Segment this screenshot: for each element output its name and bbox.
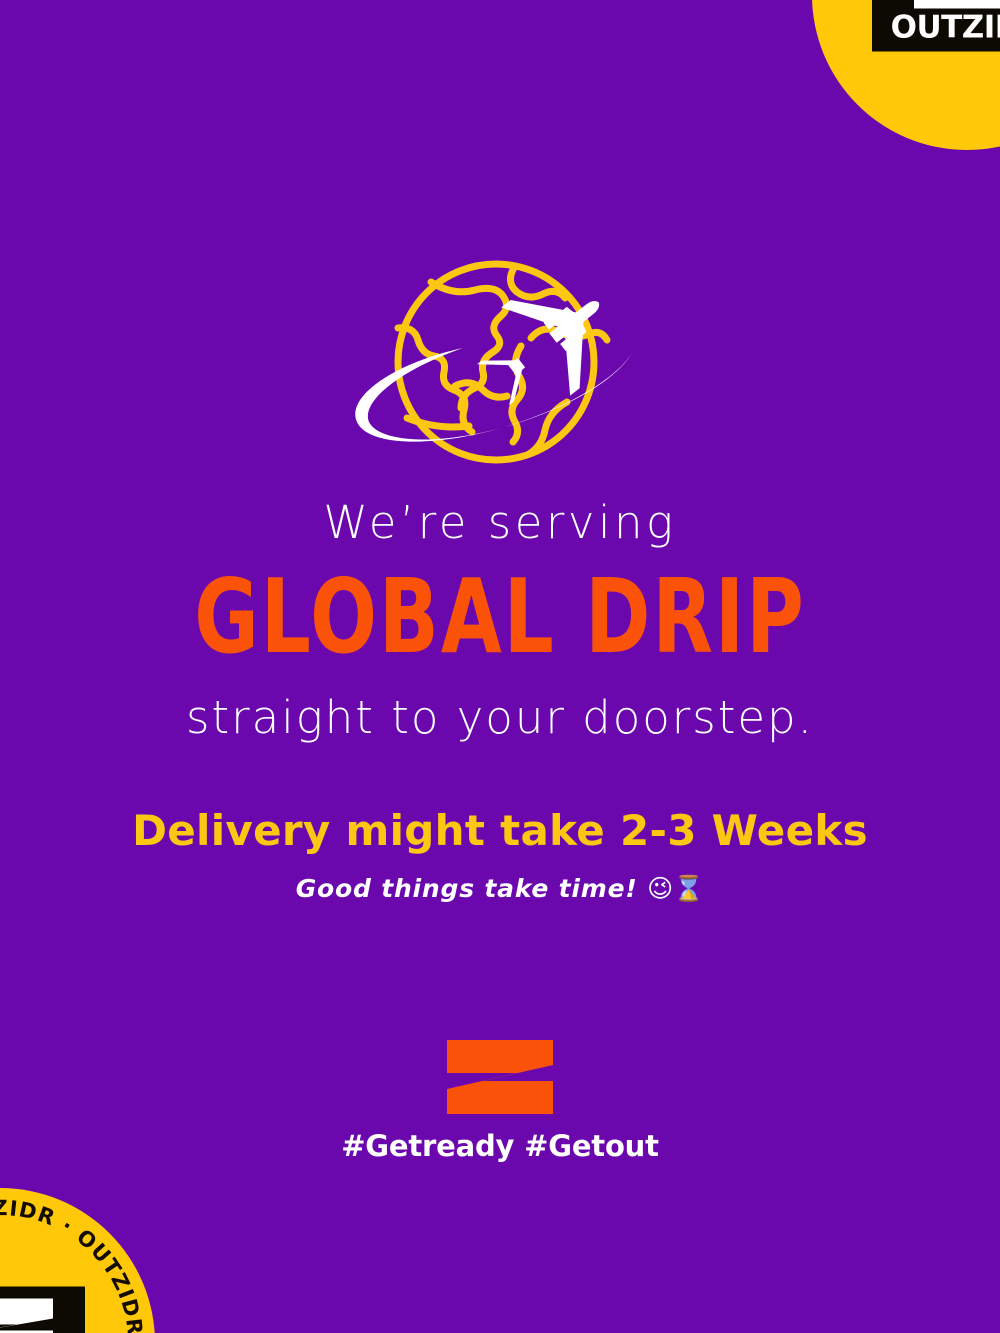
headline-text: GLOBAL DRIP [20,567,980,670]
footer-block: #Getready #Getout [0,1038,1000,1161]
delivery-note-text: Delivery might take 2-3 Weeks [0,810,1000,852]
outzidr-badge-bottom-left: OUTZIDR · OUTZIDR · OUTZIDR · OUTZIDR · … [0,1188,155,1333]
reassurance-line: Good things take time! 😉⌛ [0,876,1000,901]
badge-core-top-right: OUTZIDR [872,0,1000,52]
poster-canvas: We’re serving GLOBAL DRIP straight to yo… [0,0,1000,1333]
badge-core-bottom-left: OUTZIDR [0,1287,85,1333]
badge-core-block: OUTZIDR [872,0,1000,52]
reassurance-text: Good things take time! [296,874,638,903]
wink-hourglass-emoji: 😉⌛ [647,874,704,903]
globe-airplane-icon [335,250,665,475]
badge-core-block: OUTZIDR [0,1287,85,1333]
outzidr-z-mark [0,1297,77,1333]
outzidr-badge-top-right: OUTZIDR · OUTZIDR · OUTZIDR · OUTZIDR · … [812,0,1000,150]
subhead-text: straight to your doorstep. [0,695,1000,740]
airplane-icon [459,258,634,429]
hero-illustration [0,250,1000,475]
copy-block: We’re serving GLOBAL DRIP straight to yo… [0,500,1000,901]
hashtags-text: #Getready #Getout [0,1132,1000,1161]
badge-wordmark: OUTZIDR [880,13,1000,44]
eyebrow-text: We’re serving [0,500,1000,545]
outzidr-z-mark [445,1038,555,1116]
